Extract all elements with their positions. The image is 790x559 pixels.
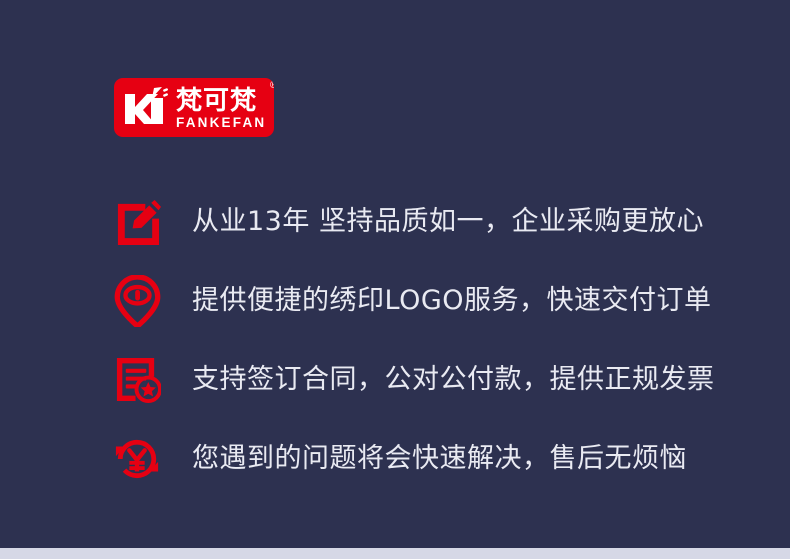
registered-trademark-icon: ® xyxy=(270,81,274,91)
contract-document-seal-icon xyxy=(112,355,162,405)
feature-text: 从业13年 坚持品质如一，企业采购更放心 xyxy=(192,205,704,239)
refund-yuan-icon xyxy=(112,434,162,484)
feature-row: 从业13年 坚持品质如一，企业采购更放心 xyxy=(108,182,728,261)
fankefan-monogram-icon xyxy=(121,84,173,132)
feature-text: 支持签订合同，公对公付款，提供正规发票 xyxy=(192,363,715,397)
logo-wordmark: 梵可梵 FANKEFAN ® xyxy=(176,85,266,130)
feature-row: 提供便捷的绣印LOGO服务，快速交付订单 xyxy=(108,261,728,340)
feature-row: 支持签订合同，公对公付款，提供正规发票 xyxy=(108,340,728,419)
bottom-divider-strip xyxy=(0,548,790,559)
edit-pencil-icon xyxy=(112,197,162,247)
logo-latin-name: FANKEFAN xyxy=(176,116,266,130)
feature-list: 从业13年 坚持品质如一，企业采购更放心 提供便捷的绣印LOGO服务，快速交付订… xyxy=(108,182,728,498)
feature-text: 提供便捷的绣印LOGO服务，快速交付订单 xyxy=(192,284,712,318)
brand-logo: 梵可梵 FANKEFAN ® xyxy=(114,78,274,137)
feature-text: 您遇到的问题将会快速解决，售后无烦恼 xyxy=(192,442,687,476)
promo-banner: 梵可梵 FANKEFAN ® 从业13年 坚持品质如一，企业采购更放心 xyxy=(0,0,790,559)
logo-chinese-name: 梵可梵 xyxy=(176,87,266,115)
location-pin-eye-icon xyxy=(112,276,162,326)
feature-row: 您遇到的问题将会快速解决，售后无烦恼 xyxy=(108,419,728,498)
